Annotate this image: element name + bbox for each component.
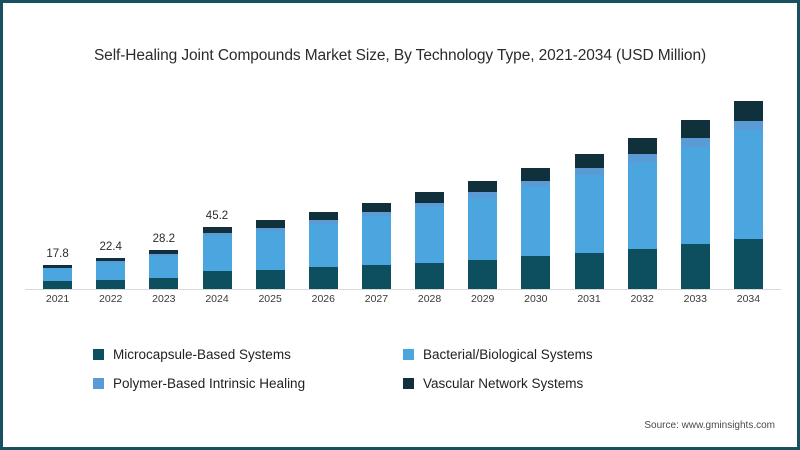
legend-label: Polymer-Based Intrinsic Healing — [113, 376, 305, 391]
bar-stack — [43, 265, 72, 289]
x-tick-label: 2024 — [205, 293, 228, 305]
bar-segment — [309, 224, 338, 268]
bar-segment — [468, 181, 497, 192]
bar-stack — [203, 227, 232, 289]
bar-segment — [362, 203, 391, 212]
bar-stack — [468, 181, 497, 289]
x-tick-label: 2031 — [577, 293, 600, 305]
bar-column[interactable] — [681, 83, 710, 289]
bar-segment — [521, 187, 550, 256]
bar-segment — [734, 101, 763, 121]
bar-column[interactable]: 22.4 — [96, 83, 125, 289]
bar-segment — [415, 192, 444, 202]
bar-segment — [521, 168, 550, 181]
bar-stack — [681, 120, 710, 289]
bar-segment — [575, 175, 604, 253]
bar-segment — [149, 256, 178, 278]
x-tick-label: 2032 — [630, 293, 653, 305]
legend-swatch-icon — [403, 378, 414, 389]
bar-segment — [468, 260, 497, 289]
x-tick-label: 2034 — [737, 293, 760, 305]
bar-segment — [681, 120, 710, 138]
bar-stack — [149, 250, 178, 289]
bar-segment — [256, 231, 285, 270]
bar-segment — [415, 207, 444, 262]
legend-label: Vascular Network Systems — [423, 376, 583, 391]
bar-segment — [362, 216, 391, 265]
bar-column[interactable] — [309, 83, 338, 289]
chart-title: Self-Healing Joint Compounds Market Size… — [3, 47, 797, 65]
x-tick-label: 2021 — [46, 293, 69, 305]
bar-segment — [628, 162, 657, 249]
bar-segment — [256, 220, 285, 227]
legend-item[interactable]: Polymer-Based Intrinsic Healing — [93, 376, 403, 391]
bar-value-label: 45.2 — [206, 210, 228, 222]
bar-column[interactable] — [521, 83, 550, 289]
bar-segment — [628, 154, 657, 161]
bar-column[interactable] — [415, 83, 444, 289]
bar-segment — [734, 130, 763, 239]
plot-area: 17.822.428.245.2 — [31, 83, 775, 289]
x-tick-label: 2030 — [524, 293, 547, 305]
bar-segment — [681, 138, 710, 146]
bar-segment — [149, 278, 178, 289]
bar-column[interactable] — [628, 83, 657, 289]
bar-segment — [309, 212, 338, 220]
bar-value-label: 17.8 — [46, 248, 68, 260]
bar-segment — [203, 271, 232, 289]
bar-stack — [575, 154, 604, 289]
bar-segment — [256, 270, 285, 289]
x-tick-label: 2028 — [418, 293, 441, 305]
bar-column[interactable] — [256, 83, 285, 289]
bar-segment — [628, 138, 657, 154]
bar-column[interactable]: 17.8 — [43, 83, 72, 289]
x-axis-line — [25, 289, 781, 290]
bar-stack — [256, 220, 285, 289]
legend-item[interactable]: Bacterial/Biological Systems — [403, 347, 713, 362]
bar-stack — [362, 203, 391, 289]
bar-segment — [309, 267, 338, 289]
legend-item[interactable]: Vascular Network Systems — [403, 376, 713, 391]
bar-segment — [681, 147, 710, 244]
x-tick-label: 2022 — [99, 293, 122, 305]
bar-segment — [681, 244, 710, 289]
bar-column[interactable] — [362, 83, 391, 289]
bar-stack — [521, 168, 550, 289]
chart-figure: Self-Healing Joint Compounds Market Size… — [0, 0, 800, 450]
source-attribution: Source: www.gminsights.com — [644, 420, 775, 431]
bar-segment — [43, 268, 72, 281]
bar-segment — [43, 281, 72, 289]
bar-stack — [309, 212, 338, 289]
bar-stack — [628, 138, 657, 289]
bar-column[interactable] — [575, 83, 604, 289]
bar-column[interactable] — [734, 83, 763, 289]
bar-segment — [734, 239, 763, 289]
bar-segment — [415, 263, 444, 290]
x-tick-label: 2027 — [365, 293, 388, 305]
bar-column[interactable]: 28.2 — [149, 83, 178, 289]
bar-stack — [734, 101, 763, 289]
bar-stack — [415, 192, 444, 289]
bar-segment — [628, 249, 657, 290]
bar-segment — [575, 168, 604, 175]
bar-segment — [362, 265, 391, 289]
bar-segment — [734, 121, 763, 130]
bar-segment — [468, 198, 497, 260]
x-axis-tick-labels: 2021202220232024202520262027202820292030… — [31, 293, 775, 311]
bar-segment — [575, 154, 604, 168]
x-tick-label: 2025 — [258, 293, 281, 305]
legend-swatch-icon — [93, 349, 104, 360]
x-tick-label: 2029 — [471, 293, 494, 305]
x-tick-label: 2033 — [684, 293, 707, 305]
legend-label: Microcapsule-Based Systems — [113, 347, 291, 362]
bar-segment — [96, 280, 125, 289]
bar-column[interactable]: 45.2 — [203, 83, 232, 289]
bar-value-label: 22.4 — [100, 241, 122, 253]
bar-value-label: 28.2 — [153, 233, 175, 245]
x-tick-label: 2023 — [152, 293, 175, 305]
legend-item[interactable]: Microcapsule-Based Systems — [93, 347, 403, 362]
bar-stack — [96, 258, 125, 289]
legend-label: Bacterial/Biological Systems — [423, 347, 593, 362]
x-tick-label: 2026 — [312, 293, 335, 305]
bar-segment — [203, 236, 232, 271]
bar-segment — [96, 263, 125, 280]
legend-swatch-icon — [93, 378, 104, 389]
bar-column[interactable] — [468, 83, 497, 289]
bar-segment — [575, 253, 604, 289]
legend-swatch-icon — [403, 349, 414, 360]
chart-legend: Microcapsule-Based SystemsBacterial/Biol… — [93, 347, 713, 391]
bar-segment — [521, 256, 550, 289]
